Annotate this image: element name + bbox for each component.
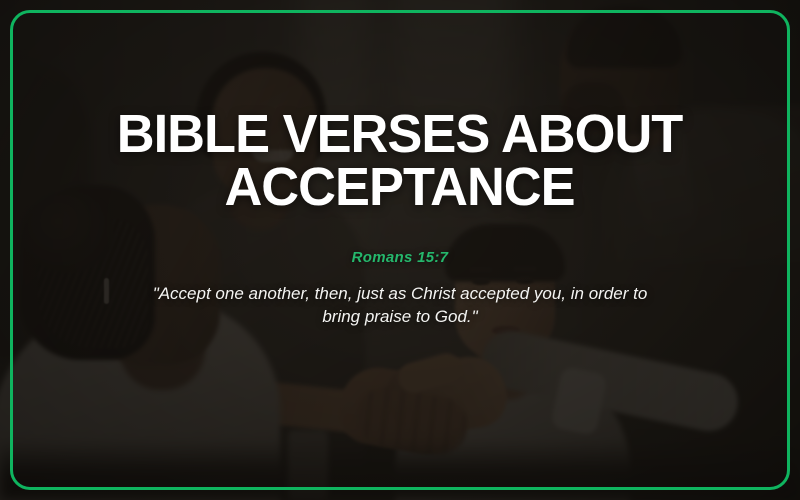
- text-content: BIBLE VERSES ABOUT ACCEPTANCE Romans 15:…: [0, 0, 800, 500]
- verse-text: "Accept one another, then, just as Chris…: [150, 282, 650, 329]
- page-title: BIBLE VERSES ABOUT ACCEPTANCE: [117, 108, 683, 215]
- bible-verse-banner: BIBLE VERSES ABOUT ACCEPTANCE Romans 15:…: [0, 0, 800, 500]
- page-title-line-1: BIBLE VERSES ABOUT: [117, 108, 683, 161]
- page-title-line-2: ACCEPTANCE: [117, 161, 683, 214]
- verse-reference: Romans 15:7: [352, 249, 449, 266]
